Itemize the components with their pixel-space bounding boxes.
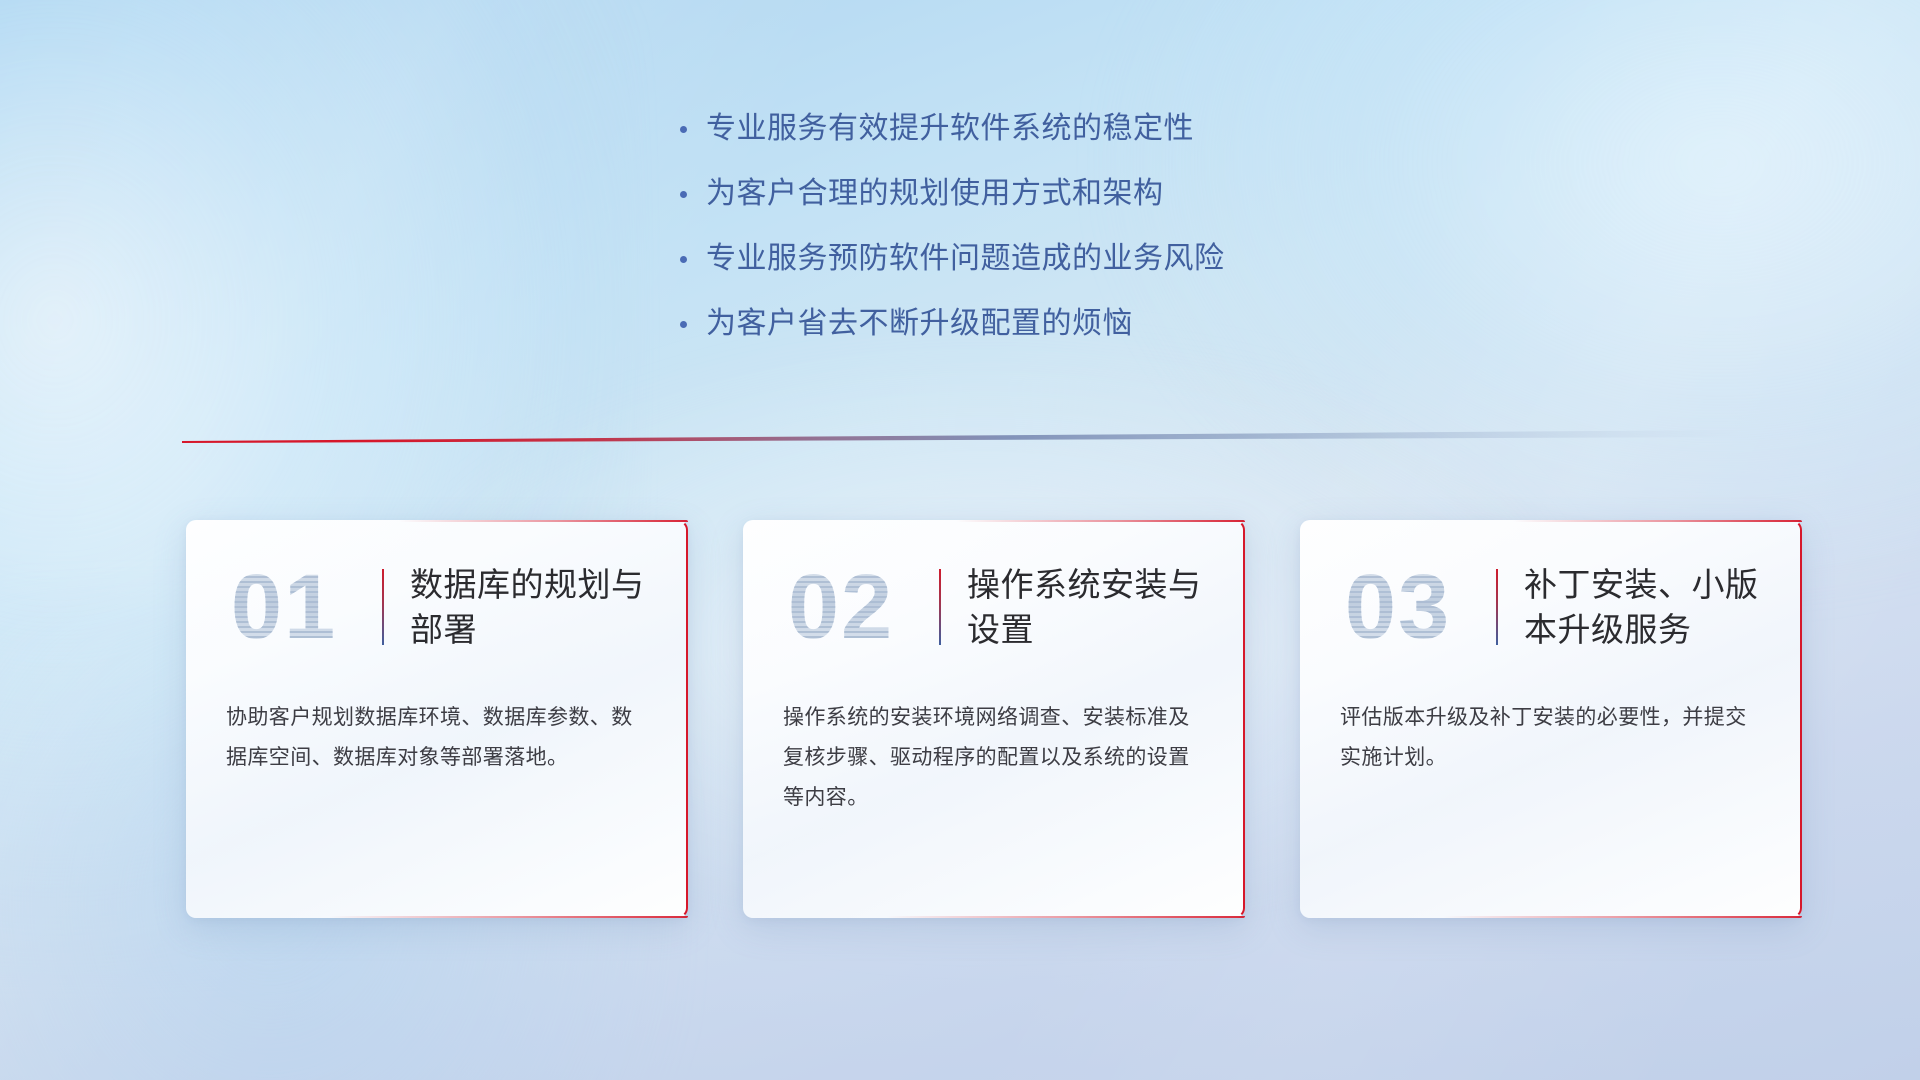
card-title: 操作系统安装与设置 — [967, 562, 1245, 652]
bullet-text: 专业服务预防软件问题造成的业务风险 — [706, 240, 1225, 278]
bullet-dot-icon — [680, 305, 706, 343]
card-number-watermark: 03 — [1300, 561, 1496, 653]
section-divider — [182, 428, 1742, 446]
card-description: 协助客户规划数据库环境、数据库参数、数据库空间、数据库对象等部署落地。 — [186, 652, 688, 778]
list-item: 专业服务预防软件问题造成的业务风险 — [680, 240, 1500, 278]
bullet-text: 为客户省去不断升级配置的烦恼 — [706, 305, 1133, 343]
card-title-divider — [939, 569, 941, 645]
card-number-watermark: 01 — [186, 561, 382, 653]
bullet-dot-icon — [680, 240, 706, 278]
card-header: 01 数据库的规划与部署 — [186, 520, 688, 652]
benefits-bullet-list: 专业服务有效提升软件系统的稳定性 为客户合理的规划使用方式和架构 专业服务预防软… — [680, 110, 1500, 370]
service-card[interactable]: 03 补丁安装、小版本升级服务 评估版本升级及补丁安装的必要性，并提交实施计划。 — [1300, 520, 1802, 918]
list-item: 为客户省去不断升级配置的烦恼 — [680, 305, 1500, 343]
service-card[interactable]: 02 操作系统安装与设置 操作系统的安装环境网络调查、安装标准及复核步骤、驱动程… — [743, 520, 1245, 918]
bullet-dot-icon — [680, 175, 706, 213]
bullet-text: 为客户合理的规划使用方式和架构 — [706, 175, 1164, 213]
card-number-watermark: 02 — [743, 561, 939, 653]
card-description: 操作系统的安装环境网络调查、安装标准及复核步骤、驱动程序的配置以及系统的设置等内… — [743, 652, 1245, 818]
card-title: 数据库的规划与部署 — [410, 562, 688, 652]
list-item: 为客户合理的规划使用方式和架构 — [680, 175, 1500, 213]
bullet-dot-icon — [680, 110, 706, 148]
card-title: 补丁安装、小版本升级服务 — [1524, 562, 1802, 652]
card-header: 03 补丁安装、小版本升级服务 — [1300, 520, 1802, 652]
list-item: 专业服务有效提升软件系统的稳定性 — [680, 110, 1500, 148]
service-card-row: 01 数据库的规划与部署 协助客户规划数据库环境、数据库参数、数据库空间、数据库… — [186, 520, 1802, 918]
card-title-divider — [1496, 569, 1498, 645]
card-description: 评估版本升级及补丁安装的必要性，并提交实施计划。 — [1300, 652, 1802, 778]
divider-shape — [182, 428, 1742, 446]
service-card[interactable]: 01 数据库的规划与部署 协助客户规划数据库环境、数据库参数、数据库空间、数据库… — [186, 520, 688, 918]
card-header: 02 操作系统安装与设置 — [743, 520, 1245, 652]
bullet-text: 专业服务有效提升软件系统的稳定性 — [706, 110, 1194, 148]
card-title-divider — [382, 569, 384, 645]
